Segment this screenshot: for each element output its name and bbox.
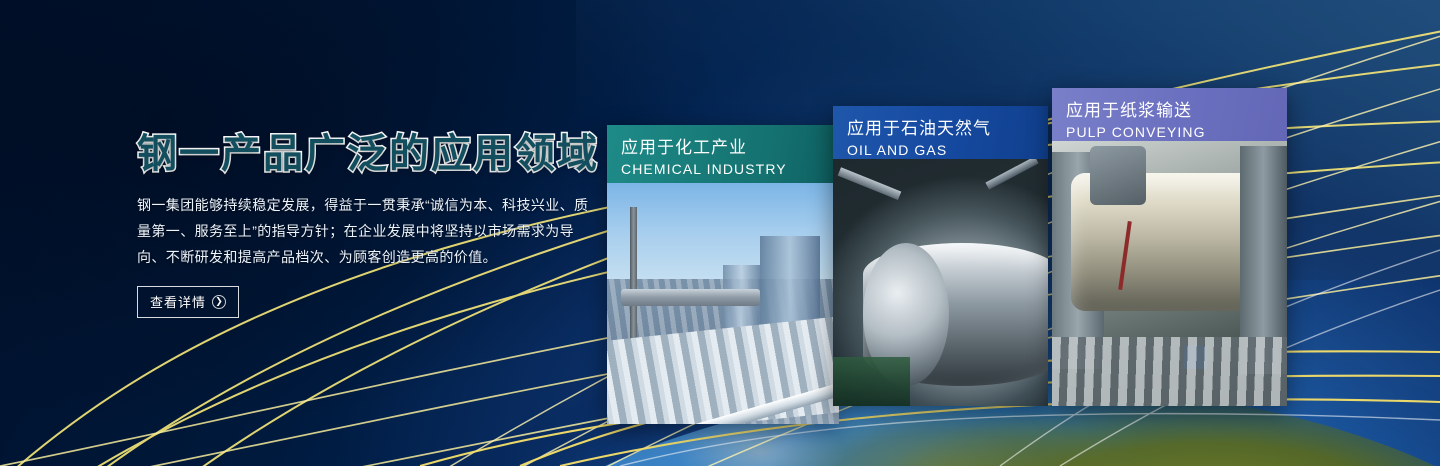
card-photo-oil-and-gas-equipment [833,159,1048,406]
card-title-cn: 应用于纸浆输送 [1066,100,1287,122]
view-details-label: 查看详情 [150,292,206,311]
page-title: 钢一产品广泛的应用领域 [137,134,607,174]
application-card-oil-and-gas[interactable]: 应用于石油天然气 OIL AND GAS [833,106,1048,406]
card-title-cn: 应用于化工产业 [621,137,839,159]
photo-green-machinery [833,357,910,406]
chevron-right-circle-icon: ❯ [212,295,226,309]
photo-overhead-pipe-left [838,167,901,200]
card-photo-chemical-plant [607,183,839,424]
photo-overhead-pipe-right [985,159,1038,190]
photo-duct [621,289,760,306]
card-header-chemical: 应用于化工产业 CHEMICAL INDUSTRY [607,125,839,183]
card-title-en: OIL AND GAS [847,141,1048,160]
card-title-en: PULP CONVEYING [1066,123,1287,142]
application-card-pulp-conveying[interactable]: 应用于纸浆输送 PULP CONVEYING [1052,88,1287,406]
hero-description: 钢一集团能够持续稳定发展，得益于一贯秉承“诚信为本、科技兴业、质量第一、服务至上… [137,192,589,270]
card-title-en: CHEMICAL INDUSTRY [621,160,839,179]
card-header-pulp-conveying: 应用于纸浆输送 PULP CONVEYING [1052,88,1287,141]
photo-valve-block [1090,146,1146,204]
card-header-oil-and-gas: 应用于石油天然气 OIL AND GAS [833,106,1048,159]
photo-pipe-rack [607,314,839,424]
photo-lower-piping [1052,337,1287,406]
card-photo-pulp-machinery [1052,141,1287,406]
hero-banner: 钢一产品广泛的应用领域 钢一集团能够持续稳定发展，得益于一贯秉承“诚信为本、科技… [0,0,1440,466]
hero-copy: 钢一产品广泛的应用领域 钢一集团能够持续稳定发展，得益于一贯秉承“诚信为本、科技… [137,134,607,318]
card-title-cn: 应用于石油天然气 [847,118,1048,140]
view-details-button[interactable]: 查看详情 ❯ [137,286,239,318]
photo-smokestack [630,207,637,340]
application-card-chemical[interactable]: 应用于化工产业 CHEMICAL INDUSTRY [607,125,839,424]
